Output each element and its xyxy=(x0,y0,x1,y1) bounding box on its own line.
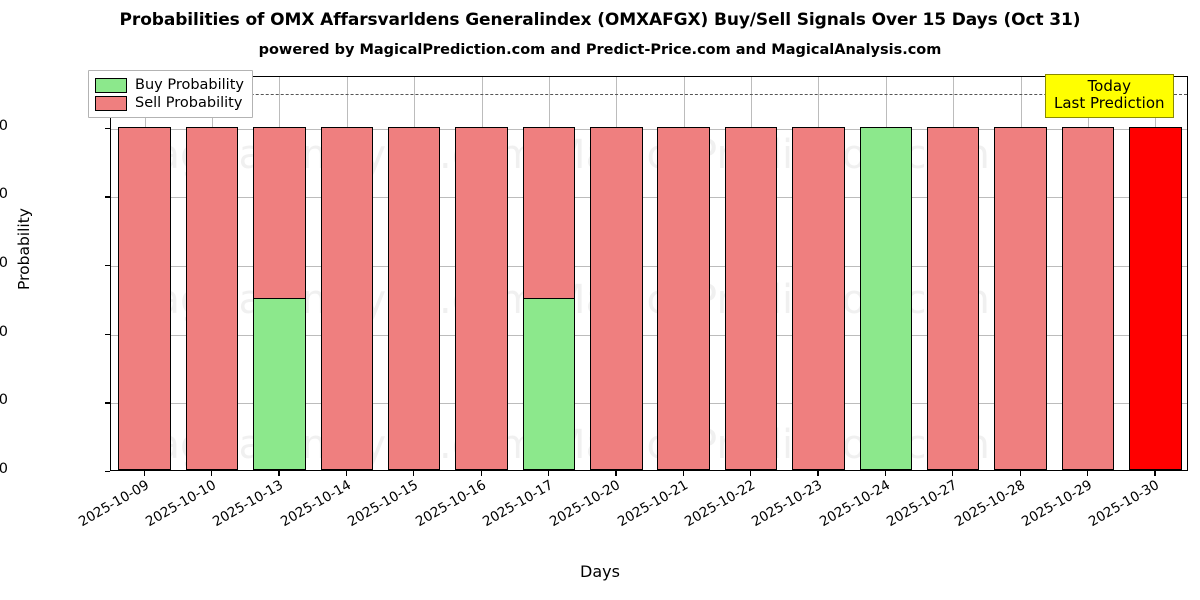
y-tick-mark-40 xyxy=(105,334,110,335)
y-tick-label-60: 60 xyxy=(0,255,8,271)
reference-line xyxy=(111,94,1187,95)
x-tick-mark-2025-10-29 xyxy=(1087,471,1088,476)
bar-group-2025-10-23[interactable] xyxy=(792,77,845,470)
y-tick-label-20: 20 xyxy=(0,392,8,408)
bar-buy[interactable] xyxy=(860,127,913,470)
bar-sell[interactable] xyxy=(388,127,441,470)
x-tick-mark-2025-10-17 xyxy=(548,471,549,476)
y-tick-mark-0 xyxy=(105,471,110,472)
chart-title: Probabilities of OMX Affarsvarldens Gene… xyxy=(0,10,1200,30)
bar-sell[interactable] xyxy=(725,127,778,470)
bar-group-2025-10-15[interactable] xyxy=(388,77,441,470)
bar-buy[interactable] xyxy=(523,298,576,470)
x-tick-mark-2025-10-24 xyxy=(885,471,886,476)
y-tick-mark-100 xyxy=(105,128,110,129)
bar-sell[interactable] xyxy=(455,127,508,470)
x-tick-mark-2025-10-27 xyxy=(952,471,953,476)
bar-group-2025-10-30[interactable] xyxy=(1129,77,1182,470)
y-tick-mark-60 xyxy=(105,265,110,266)
y-tick-label-80: 80 xyxy=(0,186,8,202)
chart-figure: Probabilities of OMX Affarsvarldens Gene… xyxy=(0,0,1200,600)
bar-sell[interactable] xyxy=(657,127,710,470)
x-axis-label: Days xyxy=(0,562,1200,581)
bar-sell[interactable] xyxy=(994,127,1047,470)
y-tick-label-40: 40 xyxy=(0,324,8,340)
today-annotation-line1: Today xyxy=(1054,78,1165,95)
bar-group-2025-10-09[interactable] xyxy=(118,77,171,470)
bar-group-2025-10-14[interactable] xyxy=(321,77,374,470)
y-tick-mark-80 xyxy=(105,196,110,197)
plot-area: MagicalAnalysis.comMagicaPrediction.comM… xyxy=(110,76,1188,471)
bar-sell[interactable] xyxy=(590,127,643,470)
legend-swatch-buy xyxy=(95,78,127,93)
bar-sell[interactable] xyxy=(792,127,845,470)
x-tick-mark-2025-10-09 xyxy=(144,471,145,476)
y-tick-label-0: 0 xyxy=(0,461,8,477)
bar-sell[interactable] xyxy=(186,127,239,470)
bar-group-2025-10-13[interactable] xyxy=(253,77,306,470)
bar-group-2025-10-22[interactable] xyxy=(725,77,778,470)
bar-group-2025-10-24[interactable] xyxy=(860,77,913,470)
bar-group-2025-10-27[interactable] xyxy=(927,77,980,470)
legend-item-buy: Buy Probability xyxy=(95,76,244,94)
legend-label-sell: Sell Probability xyxy=(135,95,242,111)
today-annotation: Today Last Prediction xyxy=(1045,74,1174,118)
bar-sell[interactable] xyxy=(1062,127,1115,470)
y-tick-label-100: 100 xyxy=(0,118,8,134)
bar-group-2025-10-28[interactable] xyxy=(994,77,1047,470)
x-tick-mark-2025-10-28 xyxy=(1020,471,1021,476)
x-tick-mark-2025-10-16 xyxy=(481,471,482,476)
x-tick-mark-2025-10-21 xyxy=(683,471,684,476)
x-tick-mark-2025-10-15 xyxy=(413,471,414,476)
bar-sell[interactable] xyxy=(927,127,980,470)
x-tick-mark-2025-10-14 xyxy=(346,471,347,476)
x-tick-mark-2025-10-22 xyxy=(750,471,751,476)
legend-item-sell: Sell Probability xyxy=(95,94,244,112)
x-tick-mark-2025-10-10 xyxy=(211,471,212,476)
legend-label-buy: Buy Probability xyxy=(135,77,244,93)
bar-group-2025-10-16[interactable] xyxy=(455,77,508,470)
x-tick-mark-2025-10-30 xyxy=(1154,471,1155,476)
x-tick-mark-2025-10-13 xyxy=(278,471,279,476)
today-annotation-line2: Last Prediction xyxy=(1054,95,1165,112)
bar-group-2025-10-21[interactable] xyxy=(657,77,710,470)
y-tick-mark-20 xyxy=(105,402,110,403)
bar-group-2025-10-10[interactable] xyxy=(186,77,239,470)
chart-legend: Buy Probability Sell Probability xyxy=(88,70,253,118)
bar-group-2025-10-29[interactable] xyxy=(1062,77,1115,470)
bar-sell[interactable] xyxy=(118,127,171,470)
x-tick-mark-2025-10-23 xyxy=(817,471,818,476)
bar-group-2025-10-17[interactable] xyxy=(523,77,576,470)
bar-buy[interactable] xyxy=(253,298,306,470)
bar-group-2025-10-20[interactable] xyxy=(590,77,643,470)
bar-sell[interactable] xyxy=(321,127,374,470)
legend-swatch-sell xyxy=(95,96,127,111)
x-tick-mark-2025-10-20 xyxy=(615,471,616,476)
y-axis-label: Probability xyxy=(15,49,33,449)
chart-subtitle: powered by MagicalPrediction.com and Pre… xyxy=(0,42,1200,58)
bar-today-sell[interactable] xyxy=(1129,127,1182,470)
